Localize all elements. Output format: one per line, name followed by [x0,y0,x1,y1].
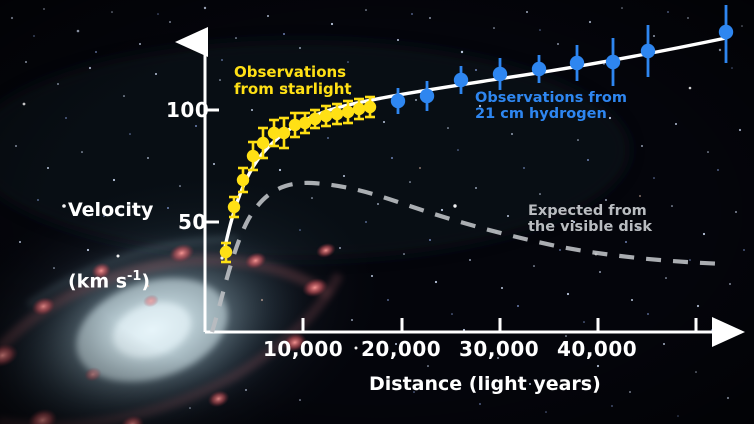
y-tick-label-100: 100 [166,99,209,121]
x-tick-label-40000: 40,000 [557,338,637,360]
y-axis-unit-exponent: -1 [127,269,141,284]
annotation-expected-disk: Expected from the visible disk [528,203,652,235]
y-axis-ticks [205,110,219,222]
y-axis-title: Velocity (km s-1) [68,153,153,340]
x-axis-ticks [303,318,696,332]
y-axis-title-line2: (km s-1) [68,269,153,294]
annotation-expected-line2: the visible disk [528,219,652,235]
x-tick-label-30000: 30,000 [459,338,539,360]
annotation-hydrogen: Observations from 21 cm hydrogen [475,90,627,122]
y-axis-unit-close: ) [141,270,150,292]
annotation-expected-line1: Expected from [528,203,652,219]
series-starlight [220,97,376,262]
annotation-starlight-line2: from starlight [234,81,352,98]
figure-canvas: 100 50 10,000 20,000 30,000 40,000 Dista… [0,0,754,424]
x-axis-title: Distance (light years) [369,374,601,395]
annotation-hydrogen-line1: Observations from [475,90,627,106]
annotation-hydrogen-line2: 21 cm hydrogen [475,106,627,122]
y-axis-title-line1: Velocity [68,199,153,222]
annotation-starlight-line1: Observations [234,64,352,81]
x-tick-label-10000: 10,000 [263,338,343,360]
y-axis-unit-open: (km s [68,270,127,292]
annotation-starlight: Observations from starlight [234,64,352,98]
y-tick-label-50: 50 [178,211,207,233]
x-tick-label-20000: 20,000 [361,338,441,360]
